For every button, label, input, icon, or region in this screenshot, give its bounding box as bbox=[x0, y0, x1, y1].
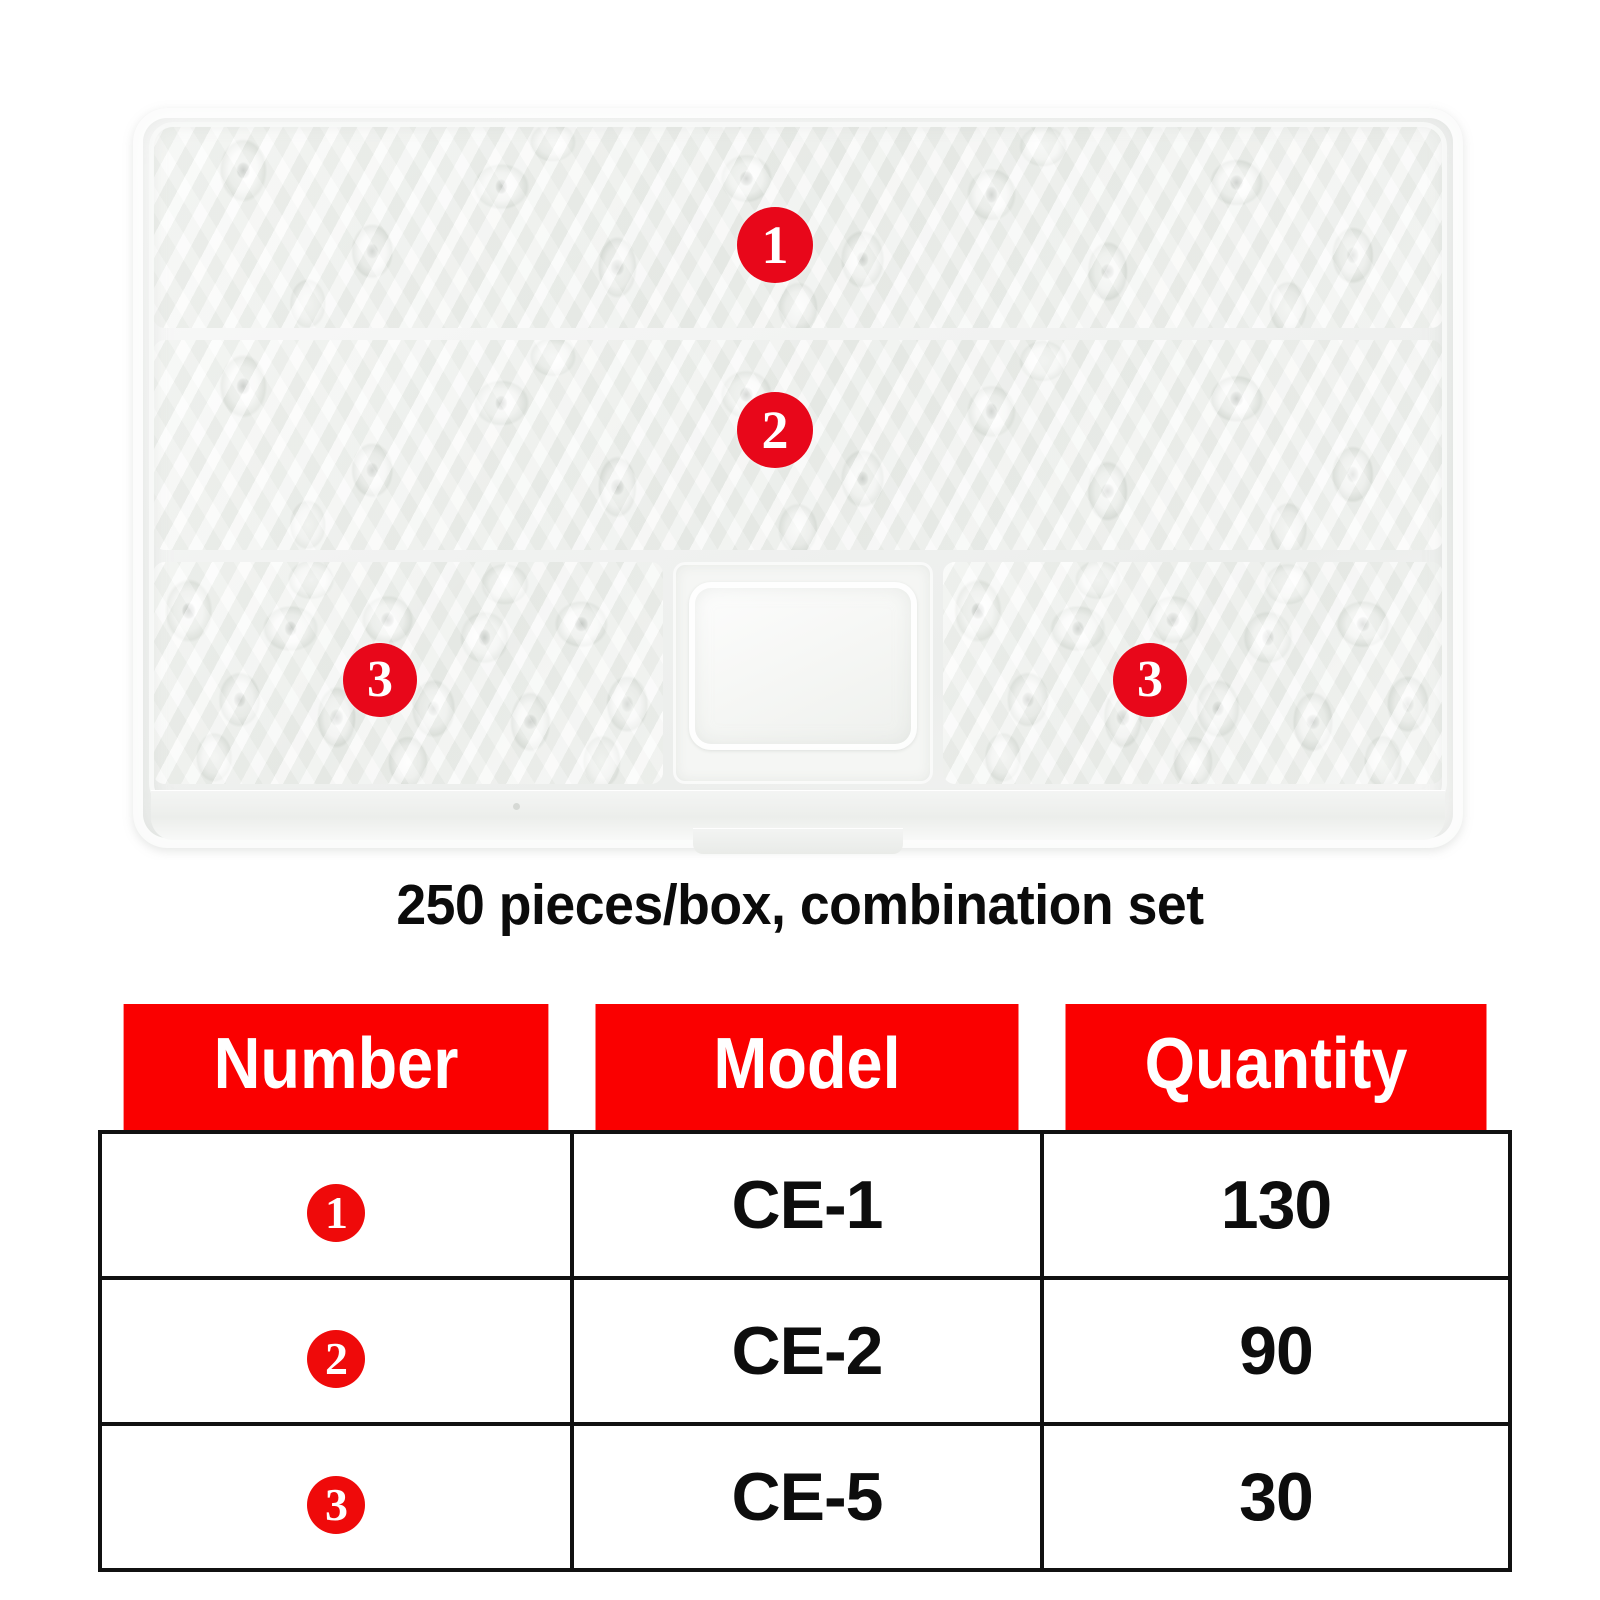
photo-badge-2: 2 bbox=[737, 392, 813, 468]
row-badge-icon: 2 bbox=[307, 1330, 365, 1388]
photo-badge-label: 3 bbox=[1137, 654, 1163, 706]
cell-quantity: 90 bbox=[1042, 1278, 1510, 1424]
cell-model: CE-2 bbox=[572, 1278, 1042, 1424]
cell-quantity: 30 bbox=[1042, 1424, 1510, 1570]
cell-quantity: 130 bbox=[1042, 1132, 1510, 1278]
column-header-number: Number bbox=[124, 1004, 549, 1132]
table-row: 2 CE-2 90 bbox=[100, 1278, 1510, 1424]
column-header-model: Model bbox=[596, 1004, 1019, 1132]
product-caption: 250 pieces/box, combination set bbox=[48, 872, 1552, 938]
hinge-dot-icon bbox=[513, 803, 520, 810]
cell-model: CE-1 bbox=[572, 1132, 1042, 1278]
photo-badge-3-left: 3 bbox=[343, 643, 417, 717]
product-photo: 1 2 3 3 bbox=[0, 0, 1600, 860]
photo-badge-label: 2 bbox=[762, 403, 789, 457]
table-row: 3 CE-5 30 bbox=[100, 1424, 1510, 1570]
row-badge-icon: 3 bbox=[307, 1476, 365, 1534]
photo-badge-3-right: 3 bbox=[1113, 643, 1187, 717]
specification-table: Number Model Quantity 1 CE-1 130 2 CE-2 … bbox=[98, 1004, 1512, 1572]
cell-model: CE-5 bbox=[572, 1424, 1042, 1570]
photo-badge-1: 1 bbox=[737, 207, 813, 283]
photo-badge-label: 3 bbox=[367, 654, 393, 706]
table-row: 1 CE-1 130 bbox=[100, 1132, 1510, 1278]
row-badge-icon: 1 bbox=[307, 1184, 365, 1242]
column-header-quantity: Quantity bbox=[1065, 1004, 1486, 1132]
cell-number: 1 bbox=[100, 1132, 572, 1278]
photo-badge-label: 1 bbox=[762, 218, 789, 272]
cell-number: 2 bbox=[100, 1278, 572, 1424]
cell-number: 3 bbox=[100, 1424, 572, 1570]
box-latch-tab bbox=[693, 828, 903, 854]
table-header-row: Number Model Quantity bbox=[100, 1004, 1510, 1132]
